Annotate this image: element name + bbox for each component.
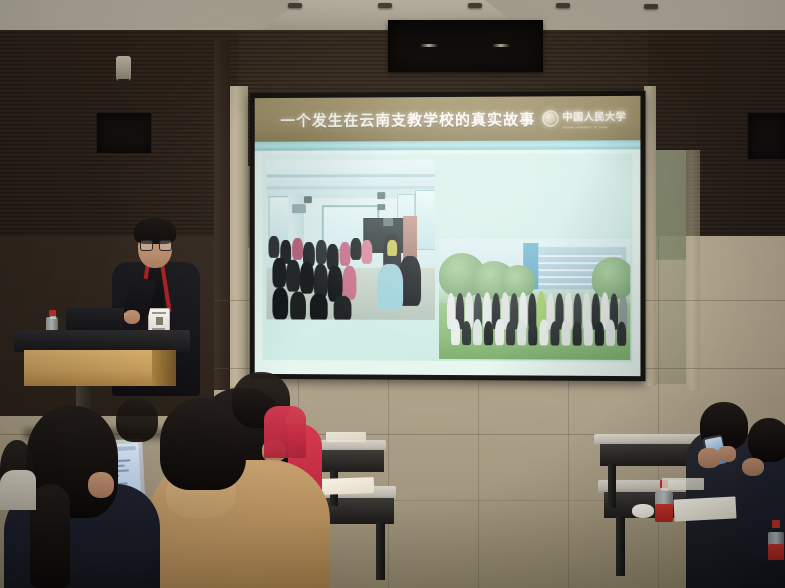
group-photo-person (584, 319, 593, 345)
slide-divider (255, 140, 641, 150)
classroom-wall-box (377, 204, 385, 210)
desk-leg (616, 516, 625, 576)
audience-phone-student-hand (698, 448, 720, 468)
slide-body (263, 153, 633, 362)
classroom-beam (267, 174, 435, 177)
classroom-wall-box (292, 204, 306, 213)
audience-phone-student-hand (718, 446, 736, 462)
classroom-wall-box (383, 218, 393, 226)
classroom-student (316, 240, 327, 264)
group-photo-person (484, 321, 493, 345)
classroom-student (272, 288, 288, 320)
desk-leg (376, 522, 385, 580)
classroom-student (286, 260, 300, 292)
presentation-slide: 一个发生在云南支教学校的真实故事 中国人民大学 RENMIN UNIVERSIT… (255, 96, 641, 376)
group-photo-person (473, 319, 482, 345)
classroom-student (340, 242, 351, 266)
group-photo-person (506, 321, 515, 345)
projection-screen: 一个发生在云南支教学校的真实故事 中国人民大学 RENMIN UNIVERSIT… (250, 91, 646, 381)
tissue (632, 504, 654, 518)
audience-laptop-student-hand (88, 472, 114, 498)
slide-photo-classroom (267, 160, 435, 320)
classroom-window (415, 190, 435, 250)
group-photo-person (606, 320, 615, 346)
audience-neighbour-head (748, 418, 785, 462)
ceiling-light-fixture (288, 3, 302, 8)
classroom-student (272, 258, 286, 288)
group-photo-person (451, 319, 460, 345)
audience-back-row-body (264, 406, 306, 458)
open-notebook (326, 432, 366, 442)
audience-shoulder-far-left (0, 470, 36, 510)
classroom-wall-box (377, 192, 385, 199)
wall-speaker-left (96, 112, 152, 154)
desk-papers (662, 478, 704, 490)
cabinet-light-slit (420, 44, 438, 47)
wall-speaker-right (747, 112, 785, 160)
ceiling-light-fixture (468, 3, 482, 8)
university-logo: 中国人民大学 RENMIN UNIVERSITY OF CHINA (542, 107, 626, 130)
group-photo-person (561, 319, 570, 345)
desk-papers (673, 496, 736, 521)
open-notebook (318, 477, 375, 495)
wall-pillar-right-2 (686, 150, 700, 390)
classroom-student (290, 292, 306, 320)
desk-leg (608, 464, 616, 508)
desk-water-bottle-2 (768, 520, 784, 560)
classroom-student (310, 294, 328, 320)
screen-surface: 一个发生在云南支教学校的真实故事 中国人民大学 RENMIN UNIVERSIT… (255, 96, 641, 376)
classroom-person (377, 264, 403, 310)
classroom-student (334, 296, 352, 320)
wall-pillar-left-dark (214, 40, 230, 390)
classroom-student (350, 238, 361, 260)
glasses-icon (140, 240, 170, 249)
classroom-student (292, 238, 303, 260)
classroom-student (268, 236, 279, 258)
audience-head-back-row (116, 398, 158, 442)
classroom-student (300, 262, 314, 294)
slide-photo-group (439, 239, 630, 360)
podium-top (14, 330, 190, 352)
group-photo-person (539, 319, 548, 345)
university-name-en: RENMIN UNIVERSITY OF CHINA (562, 126, 626, 129)
classroom-student (343, 266, 357, 300)
ceiling-light-fixture (644, 4, 658, 9)
group-photo-person (573, 321, 582, 345)
group-photo-person (462, 321, 471, 345)
group-photo-person (517, 319, 526, 345)
classroom-beam (267, 186, 435, 189)
classroom-teacher-bag (387, 240, 397, 256)
audience-neighbour-hand (742, 458, 764, 476)
ceiling-light-fixture (378, 3, 392, 8)
bottle-cap (772, 520, 780, 528)
group-photo-person (495, 319, 504, 345)
cabinet-light-slit (492, 44, 510, 47)
slide-header: 一个发生在云南支教学校的真实故事 中国人民大学 RENMIN UNIVERSIT… (255, 96, 641, 142)
bottle-cap (49, 310, 56, 316)
classroom-wall-box (304, 196, 312, 203)
group-photo-person (528, 321, 537, 345)
ceiling-cabinet (388, 20, 543, 72)
classroom-student (361, 240, 372, 264)
university-name-cn: 中国人民大学 (562, 112, 626, 123)
group-photo-tree (592, 257, 631, 299)
ceiling-projector-icon (116, 56, 131, 82)
university-seal-icon (542, 110, 558, 126)
lecture-hall-photo: 一个发生在云南支教学校的真实故事 中国人民大学 RENMIN UNIVERSIT… (0, 0, 785, 588)
audience-laptop-student-ponytail (30, 484, 70, 588)
group-photo-person (595, 322, 604, 346)
slide-title: 一个发生在云南支教学校的真实故事 (280, 108, 535, 130)
wall-pillar-left (228, 86, 248, 386)
podium-front-edge (152, 350, 176, 386)
group-photo-person (617, 322, 626, 346)
wall-grout-line (658, 236, 659, 588)
wall-pillar-right (644, 86, 656, 386)
group-photo-person (550, 321, 559, 345)
classroom-student (314, 264, 328, 298)
bottle-label (655, 504, 673, 522)
ceiling-light-fixture (556, 3, 570, 8)
